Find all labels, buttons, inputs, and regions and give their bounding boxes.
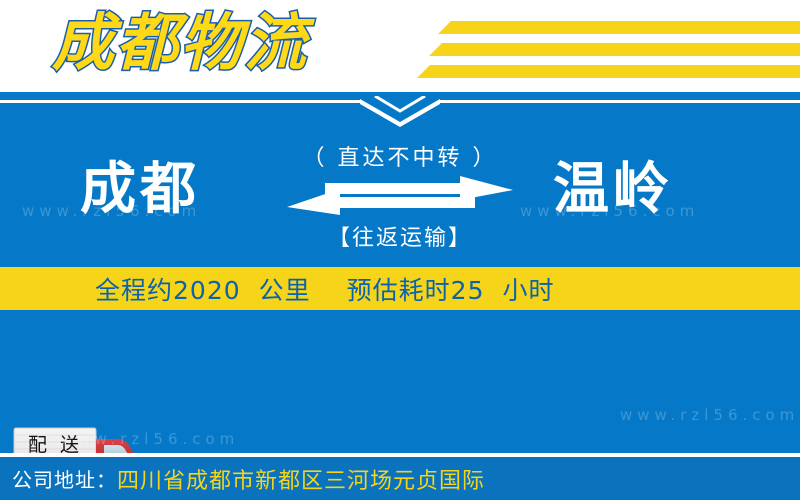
header-bar: 成都物流: [0, 0, 800, 92]
route-info-band: 全程约2020公里预估耗时25小时: [0, 267, 800, 310]
divider-rule-right: [440, 100, 800, 103]
address-bar: 公司地址： 四川省成都市新都区三河场元贞国际: [0, 457, 800, 500]
roundtrip-label: 【往返运输】: [0, 220, 800, 252]
duration-prefix: 预估耗时: [347, 276, 451, 305]
main-content-area: 成都 温岭 （ 直达不中转 ） 【往返运输】 全程约2020公里预估耗时25小时: [0, 92, 800, 455]
address-value: 四川省成都市新都区三河场元贞国际: [117, 463, 485, 495]
stripe-2: [429, 43, 800, 56]
double-chevron-down-icon: [355, 96, 445, 130]
distance-unit: 公里: [259, 276, 311, 305]
decorative-stripes: [400, 0, 800, 92]
duration-unit: 小时: [502, 276, 554, 305]
address-label: 公司地址：: [12, 464, 117, 493]
watermark: www.rzl56.com: [620, 406, 799, 424]
distance-value: 2020: [173, 276, 241, 305]
stripe-1: [438, 21, 800, 34]
route-info-text: 全程约2020公里预估耗时25小时: [95, 271, 555, 307]
bidirectional-arrow-icon: [285, 175, 515, 217]
company-logo-title: 成都物流: [52, 4, 308, 82]
duration-value: 25: [451, 276, 485, 305]
divider-rule-left: [0, 100, 360, 103]
stripe-3: [417, 65, 800, 78]
logistics-banner: 成都物流 成都 温岭 （ 直达不中转 ）: [0, 0, 800, 500]
direct-shipping-label: （ 直达不中转 ）: [0, 140, 800, 172]
distance-prefix: 全程约: [95, 276, 173, 305]
